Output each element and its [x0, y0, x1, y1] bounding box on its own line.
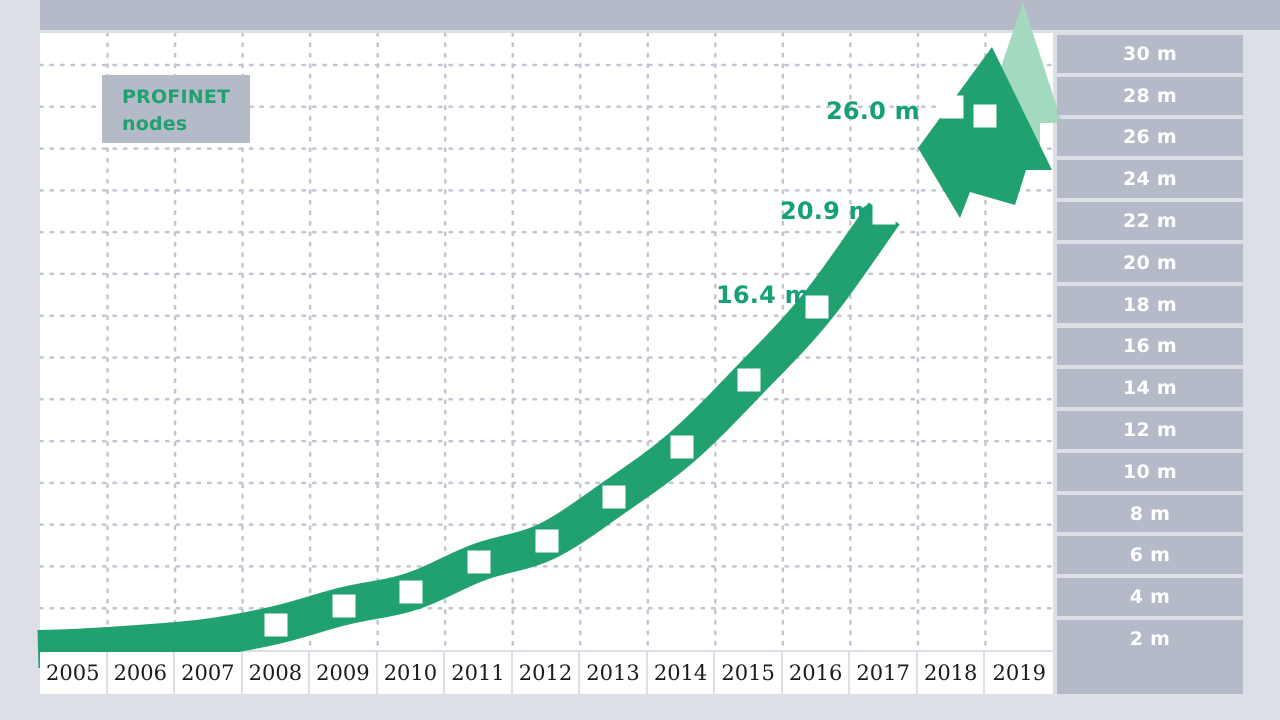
y-axis-tick-label: 16 m — [1123, 335, 1177, 357]
x-axis-tick-2008: 2008 — [243, 652, 311, 694]
y-axis-tick-8-m: 8 m — [1057, 495, 1243, 533]
x-axis-tick-label: 2015 — [721, 661, 774, 685]
x-axis-tick-2007: 2007 — [175, 652, 243, 694]
x-axis-tick-2019: 2019 — [985, 652, 1053, 694]
y-axis-tick-20-m: 20 m — [1057, 244, 1243, 282]
y-axis-tick-label: 20 m — [1123, 252, 1177, 274]
y-axis-tick-label: 14 m — [1123, 377, 1177, 399]
y-axis-tick-16-m: 16 m — [1057, 328, 1243, 366]
data-point-marker-2012 — [535, 530, 558, 553]
x-axis-tick-label: 2007 — [181, 661, 234, 685]
x-axis-tick-label: 2011 — [451, 661, 504, 685]
x-axis-tick-label: 2019 — [992, 661, 1045, 685]
x-axis-tick-label: 2009 — [316, 661, 369, 685]
data-point-marker-2015 — [738, 369, 761, 392]
y-axis-tick-12-m: 12 m — [1057, 411, 1243, 449]
x-axis-tick-label: 2013 — [586, 661, 639, 685]
data-label-16-4m: 16.4 m — [716, 281, 810, 309]
y-axis-tick-label: 8 m — [1130, 503, 1171, 525]
data-point-marker-2010 — [400, 580, 423, 603]
data-point-marker-2013 — [603, 486, 626, 509]
y-axis-tick-26-m: 26 m — [1057, 119, 1243, 157]
x-axis-tick-label: 2005 — [46, 661, 99, 685]
x-axis-corner-filler — [1057, 652, 1243, 694]
x-axis-tick-label: 2008 — [249, 661, 302, 685]
data-point-marker-2017 — [873, 202, 896, 225]
y-axis-tick-label: 24 m — [1123, 168, 1177, 190]
x-axis-tick-2017: 2017 — [850, 652, 918, 694]
y-axis-tick-label: 18 m — [1123, 294, 1177, 316]
x-axis-tick-label: 2016 — [789, 661, 842, 685]
y-axis-tick-22-m: 22 m — [1057, 202, 1243, 240]
x-axis-tick-label: 2012 — [519, 661, 572, 685]
x-axis-tick-2010: 2010 — [378, 652, 446, 694]
y-axis: 30 m28 m26 m24 m22 m20 m18 m16 m14 m12 m… — [1057, 33, 1243, 650]
x-axis-tick-2015: 2015 — [715, 652, 783, 694]
x-axis-tick-2013: 2013 — [580, 652, 648, 694]
data-point-marker-2008 — [265, 613, 288, 636]
legend-line-2: nodes — [122, 111, 250, 138]
y-axis-tick-label: 2 m — [1130, 628, 1171, 650]
x-axis-tick-2018: 2018 — [918, 652, 986, 694]
y-axis-tick-label: 10 m — [1123, 461, 1177, 483]
legend-line-1: PROFINET — [122, 84, 250, 111]
x-axis: 2005200620072008200920102011201220132014… — [40, 652, 1053, 694]
x-axis-tick-label: 2014 — [654, 661, 707, 685]
data-point-marker-2014 — [670, 436, 693, 459]
top-band — [40, 0, 1280, 30]
y-axis-tick-label: 26 m — [1123, 126, 1177, 148]
x-axis-tick-label: 2010 — [384, 661, 437, 685]
data-label-20-9m: 20.9 m — [780, 197, 874, 225]
data-point-marker-2019 — [974, 105, 997, 128]
data-point-marker-2018 — [940, 95, 963, 118]
y-axis-tick-6-m: 6 m — [1057, 536, 1243, 574]
x-axis-tick-2016: 2016 — [783, 652, 851, 694]
data-label-26-0m: 26.0 m — [826, 97, 920, 125]
legend-box: PROFINET nodes — [102, 75, 250, 143]
data-point-marker-2016 — [805, 296, 828, 319]
y-axis-tick-label: 30 m — [1123, 43, 1177, 65]
x-axis-tick-2006: 2006 — [108, 652, 176, 694]
data-point-marker-2011 — [467, 551, 490, 574]
y-axis-tick-24-m: 24 m — [1057, 160, 1243, 198]
y-axis-tick-4-m: 4 m — [1057, 578, 1243, 616]
x-axis-tick-label: 2017 — [856, 661, 909, 685]
data-point-marker-2009 — [332, 595, 355, 618]
y-axis-tick-label: 6 m — [1130, 544, 1171, 566]
y-axis-tick-18-m: 18 m — [1057, 286, 1243, 324]
x-axis-tick-2005: 2005 — [40, 652, 108, 694]
x-axis-tick-2009: 2009 — [310, 652, 378, 694]
y-axis-tick-label: 4 m — [1130, 586, 1171, 608]
y-axis-tick-label: 22 m — [1123, 210, 1177, 232]
y-axis-tick-10-m: 10 m — [1057, 453, 1243, 491]
y-axis-tick-28-m: 28 m — [1057, 77, 1243, 115]
x-axis-tick-2012: 2012 — [513, 652, 581, 694]
y-axis-tick-label: 28 m — [1123, 85, 1177, 107]
y-axis-tick-label: 12 m — [1123, 419, 1177, 441]
x-axis-tick-label: 2006 — [114, 661, 167, 685]
chart-page: PROFINET nodes 16.4 m 20.9 m 26.0 m 30 m… — [0, 0, 1280, 720]
y-axis-tick-30-m: 30 m — [1057, 35, 1243, 73]
x-axis-tick-label: 2018 — [924, 661, 977, 685]
x-axis-tick-2011: 2011 — [445, 652, 513, 694]
x-axis-tick-2014: 2014 — [648, 652, 716, 694]
y-axis-tick-14-m: 14 m — [1057, 369, 1243, 407]
